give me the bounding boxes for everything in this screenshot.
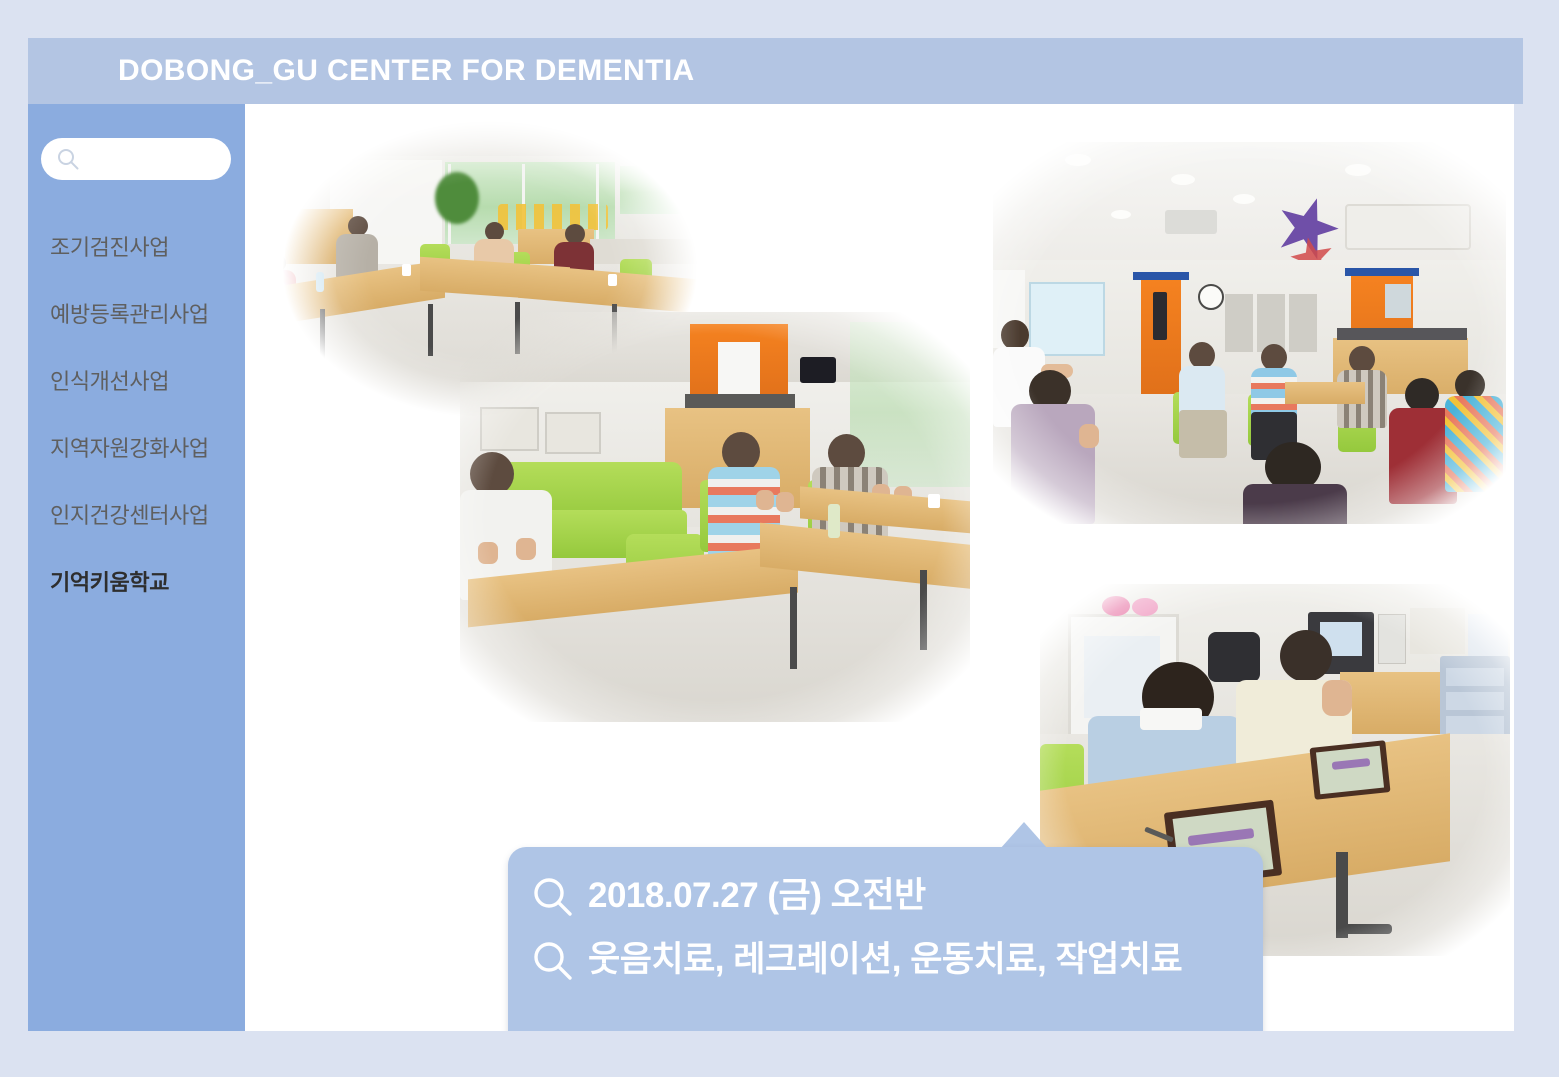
sidebar-item-awareness[interactable]: 인식개선사업 — [28, 346, 245, 413]
sidebar-item-label: 예방등록관리사업 — [50, 297, 209, 329]
callout-row-programs: 웃음치료, 레크레이션, 운동치료, 작업치료 — [530, 939, 1182, 985]
callout-programs-text: 웃음치료, 레크레이션, 운동치료, 작업치료 — [588, 939, 1182, 980]
sidebar-item-label: 지역자원강화사업 — [50, 431, 209, 463]
search-icon — [530, 939, 576, 985]
header-bar: DOBONG_GU CENTER FOR DEMENTIA — [28, 38, 1523, 104]
page-title: DOBONG_GU CENTER FOR DEMENTIA — [118, 54, 695, 88]
sidebar-item-local-resources[interactable]: 지역자원강화사업 — [28, 413, 245, 480]
search-box[interactable] — [41, 138, 231, 180]
sidebar: 조기검진사업 예방등록관리사업 인식개선사업 지역자원강화사업 인지건강센터사업… — [28, 104, 245, 1031]
session-info-callout: 2018.07.27 (금) 오전반 웃음치료, 레크레이션, 운동치료, 작업… — [508, 847, 1263, 1031]
sidebar-item-cognitive-health-center[interactable]: 인지건강센터사업 — [28, 480, 245, 547]
search-icon — [56, 147, 80, 171]
presentation-slide: DOBONG_GU CENTER FOR DEMENTIA 조기검진사업 예방등… — [0, 0, 1559, 1077]
sidebar-item-label: 인지건강센터사업 — [50, 498, 209, 530]
content-panel: 2018.07.27 (금) 오전반 웃음치료, 레크레이션, 운동치료, 작업… — [245, 104, 1514, 1031]
sidebar-nav: 조기검진사업 예방등록관리사업 인식개선사업 지역자원강화사업 인지건강센터사업… — [28, 212, 245, 614]
photo-group-exercise-circle — [993, 142, 1506, 524]
callout-tail-icon — [1000, 822, 1048, 849]
callout-row-date: 2018.07.27 (금) 오전반 — [530, 875, 926, 921]
sidebar-item-label: 기억키움학교 — [50, 565, 169, 597]
sidebar-item-memory-school[interactable]: 기억키움학교 — [28, 547, 245, 614]
callout-date-text: 2018.07.27 (금) 오전반 — [588, 875, 926, 916]
sidebar-item-label: 조기검진사업 — [50, 230, 169, 262]
sidebar-item-label: 인식개선사업 — [50, 364, 169, 396]
search-input[interactable] — [87, 138, 227, 182]
sidebar-item-prevention-registry[interactable]: 예방등록관리사업 — [28, 279, 245, 346]
search-icon — [530, 875, 576, 921]
sidebar-item-early-screening[interactable]: 조기검진사업 — [28, 212, 245, 279]
photo-three-men-at-table — [460, 312, 970, 722]
